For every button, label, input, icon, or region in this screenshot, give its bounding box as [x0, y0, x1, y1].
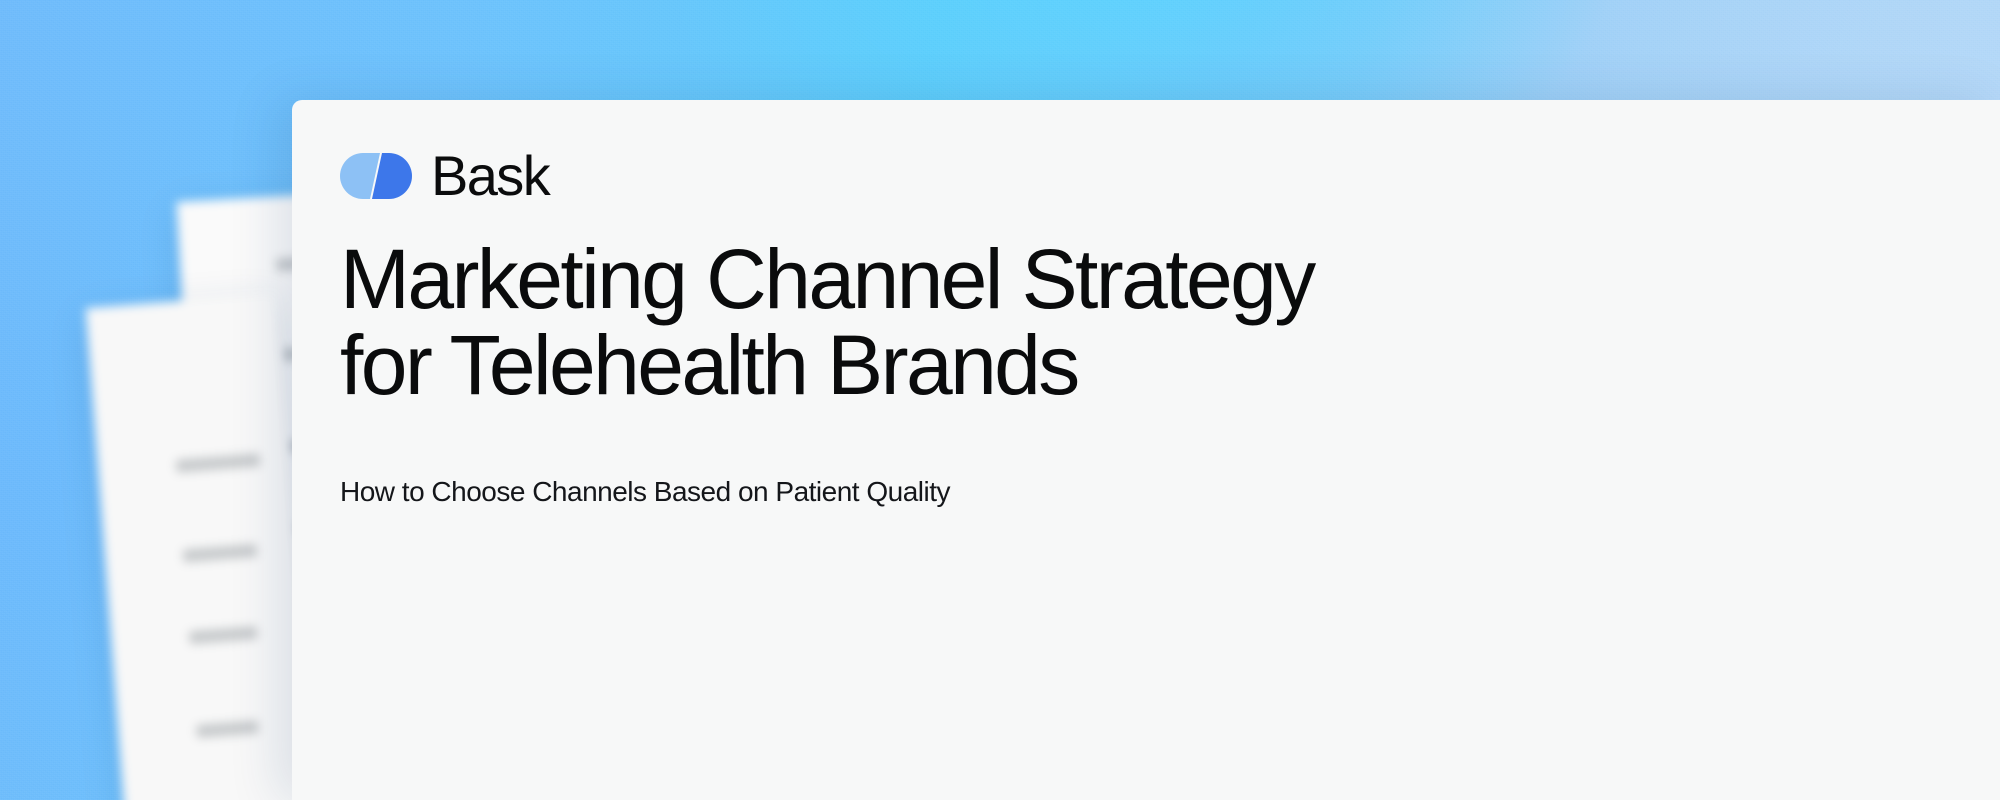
blurred-text-line [183, 544, 258, 563]
page-title-line-1: Marketing Channel Strategy [340, 237, 1580, 323]
brand-wordmark: Bask [431, 148, 549, 204]
page-title-line-2: for Telehealth Brands [340, 323, 1580, 409]
page-title: Marketing Channel Strategy for Telehealt… [340, 237, 1580, 408]
page-subtitle: How to Choose Channels Based on Patient … [340, 476, 950, 508]
bask-capsule-logo-icon [340, 153, 412, 199]
document-cover-card: Bask Marketing Channel Strategy for Tele… [292, 100, 2000, 800]
blurred-text-line [196, 720, 259, 738]
blurred-text-line [176, 453, 261, 472]
brand-logo-lockup[interactable]: Bask [340, 148, 549, 204]
blurred-text-line [189, 626, 258, 644]
